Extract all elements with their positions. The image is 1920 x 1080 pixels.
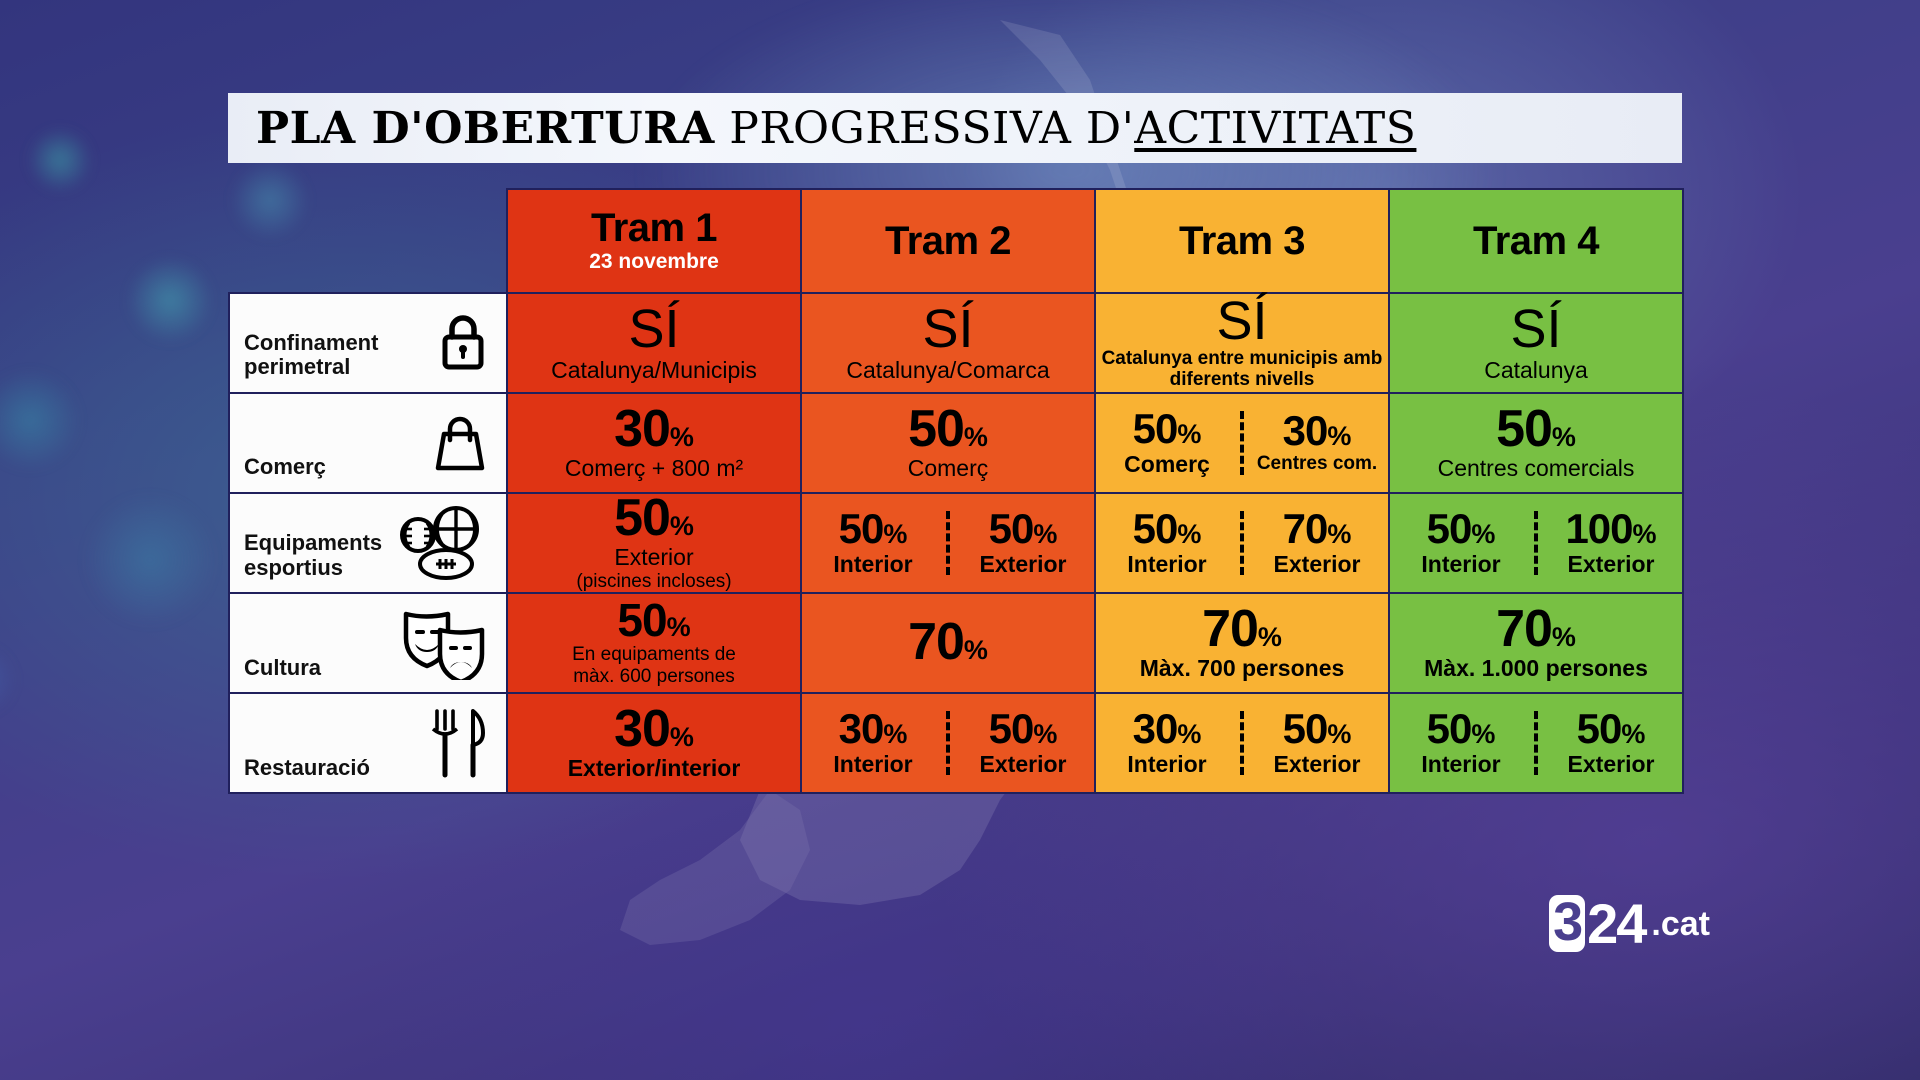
row-label-cultura: Cultura xyxy=(229,593,507,693)
cell-subtext: Catalunya/Municipis xyxy=(508,358,800,383)
column-title: Tram 1 xyxy=(508,208,800,248)
cell-comerc-tram-3: 50% Comerç 30% Centres com. xyxy=(1095,393,1389,493)
cell-unit: % xyxy=(1552,422,1576,452)
cell-cultura-tram-4: 70% Màx. 1.000 persones xyxy=(1389,593,1683,693)
cell-value-wrap: 50% xyxy=(1427,709,1496,750)
column-date-month: novembre xyxy=(613,250,719,273)
cell-subtext-2: (piscines incloses) xyxy=(508,572,800,593)
cell-value: SÍ xyxy=(508,304,800,356)
cell-cultura-tram-3: 70% Màx. 700 persones xyxy=(1095,593,1389,693)
cell-unit: % xyxy=(1258,622,1282,652)
column-date-day: 23 xyxy=(589,250,612,273)
table-row-cultura: Cultura 50% En equip xyxy=(229,593,1683,693)
split-half-right: 50% Exterior xyxy=(952,709,1094,777)
cell-value-wrap: 70% xyxy=(1390,605,1682,654)
cell-value: 30 xyxy=(839,705,884,752)
cell-unit: % xyxy=(1177,519,1201,549)
cell-value: 70 xyxy=(1496,600,1552,658)
column-header-tram-3: Tram 3 xyxy=(1095,189,1389,293)
cell-subtext: Comerç + 800 m² xyxy=(508,456,800,481)
table-header-row: Tram 1 23 novembre Tram 2 Tram 3 Tram 4 xyxy=(229,189,1683,293)
cell-unit: % xyxy=(1552,622,1576,652)
column-header-tram-4: Tram 4 xyxy=(1389,189,1683,293)
cell-unit: % xyxy=(1471,719,1495,749)
sports-icon xyxy=(394,505,490,581)
cell-unit: % xyxy=(667,612,691,642)
split-cell: 50% Interior 70% Exterior xyxy=(1096,509,1388,577)
cell-restauracio-tram-2: 30% Interior 50% Exterior xyxy=(801,693,1095,793)
header-spacer xyxy=(229,189,507,293)
cell-subtext-2: màx. 600 persones xyxy=(508,667,800,688)
cell-value: SÍ xyxy=(802,304,1094,356)
cell-unit: % xyxy=(1177,419,1201,449)
cell-value: 50 xyxy=(1283,705,1328,752)
cell-comerc-tram-2: 50% Comerç xyxy=(801,393,1095,493)
cell-restauracio-tram-4: 50% Interior 50% Exterior xyxy=(1389,693,1683,793)
cell-subtext: Comerç xyxy=(802,456,1094,481)
cell-value: 50 xyxy=(839,505,884,552)
cell-subtext: Interior xyxy=(1421,552,1500,577)
split-half-right: 30% Centres com. xyxy=(1246,409,1388,477)
cell-cultura-tram-2: 70% xyxy=(801,593,1095,693)
cell-value: SÍ xyxy=(1096,296,1388,348)
cell-unit: % xyxy=(1621,719,1645,749)
cell-subtext: Exterior xyxy=(1568,752,1655,777)
cell-value: 50 xyxy=(1427,705,1472,752)
cell-restauracio-tram-1: 30% Exterior/interior xyxy=(507,693,801,793)
cell-value: SÍ xyxy=(1390,304,1682,356)
cell-value: 70 xyxy=(908,613,964,671)
cell-value: 50 xyxy=(1496,400,1552,458)
cell-confinament-tram-4: SÍ Catalunya xyxy=(1389,293,1683,393)
cell-value-wrap: 50% xyxy=(1133,409,1202,450)
cell-value-wrap: 30% xyxy=(839,709,908,750)
cell-value-wrap: 50% xyxy=(1283,709,1352,750)
cell-value: 50 xyxy=(989,505,1034,552)
row-label-esports: Equipaments esportius xyxy=(229,493,507,593)
cell-value-wrap: 50% xyxy=(1390,405,1682,454)
split-cell: 30% Interior 50% Exterior xyxy=(802,709,1094,777)
cell-unit: % xyxy=(1471,519,1495,549)
column-date: 23 novembre xyxy=(508,250,800,273)
cell-value: 30 xyxy=(614,700,670,758)
cell-value: 50 xyxy=(1577,705,1622,752)
cell-unit: % xyxy=(670,511,694,541)
cell-subtext: Catalunya/Comarca xyxy=(802,358,1094,383)
cell-subtext: Exterior xyxy=(980,552,1067,577)
table-row-esports: Equipaments esportius xyxy=(229,493,1683,593)
cell-unit: % xyxy=(1327,421,1351,451)
title-bold: PLA D'OBERTURA xyxy=(256,103,715,154)
cell-value-wrap: 50% xyxy=(508,494,800,543)
cell-subtext: Exterior xyxy=(980,752,1067,777)
cell-divider xyxy=(1240,511,1244,575)
row-label-text: Restauració xyxy=(244,756,370,781)
cell-divider xyxy=(1240,411,1244,475)
cell-subtext: Exterior xyxy=(508,545,800,570)
column-title: Tram 3 xyxy=(1096,221,1388,261)
cell-value-wrap: 50% xyxy=(839,509,908,550)
split-half-left: 50% Interior xyxy=(1390,709,1532,777)
cell-subtext: Centres comercials xyxy=(1390,456,1682,481)
cell-value-wrap: 70% xyxy=(1283,509,1352,550)
cell-unit: % xyxy=(1327,719,1351,749)
cell-value: 50 xyxy=(989,705,1034,752)
cell-esports-tram-3: 50% Interior 70% Exterior xyxy=(1095,493,1389,593)
cell-value: 100 xyxy=(1565,505,1632,552)
cell-subtext: Màx. 1.000 persones xyxy=(1390,656,1682,681)
split-half-left: 50% Interior xyxy=(802,509,944,577)
cell-value-wrap: 30% xyxy=(508,705,800,754)
cell-value-wrap: 50% xyxy=(1427,509,1496,550)
page-title: PLA D'OBERTURA PROGRESSIVA D'ACTIVITATS xyxy=(256,103,1416,154)
title-underlined: ACTIVITATS xyxy=(1134,103,1416,154)
cell-subtext: Exterior xyxy=(1274,552,1361,577)
split-cell: 50% Interior 50% Exterior xyxy=(802,509,1094,577)
cell-value-wrap: 50% xyxy=(989,709,1058,750)
cell-value: 50 xyxy=(614,489,670,547)
cell-subtext: Catalunya xyxy=(1390,358,1682,383)
cell-unit: % xyxy=(883,719,907,749)
logo-mark: 324 xyxy=(1549,895,1645,952)
cell-subtext: Comerç xyxy=(1124,452,1210,477)
cell-value: 30 xyxy=(1283,407,1328,454)
cell-value: 50 xyxy=(1427,505,1472,552)
cell-value-wrap: 50% xyxy=(1577,709,1646,750)
cell-subtext: Interior xyxy=(833,752,912,777)
logo-suffix: .cat xyxy=(1651,907,1710,941)
split-half-left: 50% Interior xyxy=(1390,509,1532,577)
cell-unit: % xyxy=(670,722,694,752)
split-half-right: 50% Exterior xyxy=(1246,709,1388,777)
split-half-right: 100% Exterior xyxy=(1540,509,1682,577)
cell-value-wrap: 30% xyxy=(1283,411,1352,452)
cell-value-wrap: 70% xyxy=(802,618,1094,667)
cell-unit: % xyxy=(670,422,694,452)
cell-value: 30 xyxy=(1133,705,1178,752)
shopping-bag-icon xyxy=(430,410,490,476)
table-row-restauracio: Restauració 30% Exterior/interi xyxy=(229,693,1683,793)
cell-value-wrap: 50% xyxy=(989,509,1058,550)
row-label-confinament: Confinament perimetral xyxy=(229,293,507,393)
split-cell: 50% Interior 100% Exterior xyxy=(1390,509,1682,577)
title-bar: PLA D'OBERTURA PROGRESSIVA D'ACTIVITATS xyxy=(228,93,1682,163)
row-label-text: Confinament perimetral xyxy=(244,331,414,380)
cell-cultura-tram-1: 50% En equipaments de màx. 600 persones xyxy=(507,593,801,693)
cell-esports-tram-1: 50% Exterior (piscines incloses) xyxy=(507,493,801,593)
table-row-confinament: Confinament perimetral SÍ Catalunya/Muni… xyxy=(229,293,1683,393)
cell-subtext: Màx. 700 persones xyxy=(1096,656,1388,681)
split-cell: 50% Interior 50% Exterior xyxy=(1390,709,1682,777)
logo-digits: 24 xyxy=(1587,896,1645,952)
plan-table: Tram 1 23 novembre Tram 2 Tram 3 Tram 4 … xyxy=(228,188,1684,794)
cell-confinament-tram-3: SÍ Catalunya entre municipis amb diferen… xyxy=(1095,293,1389,393)
channel-logo: 324 .cat xyxy=(1549,895,1710,952)
row-label-text: Cultura xyxy=(244,656,321,681)
row-label-comerc: Comerç xyxy=(229,393,507,493)
cutlery-icon xyxy=(428,707,490,779)
cell-divider xyxy=(946,711,950,775)
split-half-left: 30% Interior xyxy=(802,709,944,777)
cell-value-wrap: 50% xyxy=(802,405,1094,454)
cell-unit: % xyxy=(883,519,907,549)
split-cell: 50% Comerç 30% Centres com. xyxy=(1096,409,1388,477)
split-half-left: 50% Interior xyxy=(1096,509,1238,577)
cell-value: 70 xyxy=(1283,505,1328,552)
cell-divider xyxy=(1534,511,1538,575)
cell-unit: % xyxy=(1327,519,1351,549)
cell-value-wrap: 50% xyxy=(1133,509,1202,550)
row-label-text: Comerç xyxy=(244,455,326,480)
cell-value: 50 xyxy=(908,400,964,458)
cell-value: 50 xyxy=(1133,505,1178,552)
cell-unit: % xyxy=(964,422,988,452)
cell-unit: % xyxy=(1033,719,1057,749)
cell-divider xyxy=(1240,711,1244,775)
split-half-right: 50% Exterior xyxy=(952,509,1094,577)
split-half-right: 50% Exterior xyxy=(1540,709,1682,777)
theatre-masks-icon xyxy=(398,606,490,680)
cell-subtext: En equipaments de xyxy=(508,645,800,666)
logo-three: 3 xyxy=(1549,895,1585,952)
column-header-tram-1: Tram 1 23 novembre xyxy=(507,189,801,293)
cell-divider xyxy=(1534,711,1538,775)
cell-unit: % xyxy=(1177,719,1201,749)
cell-value-wrap: 70% xyxy=(1096,605,1388,654)
cell-value-wrap: 30% xyxy=(1133,709,1202,750)
cell-restauracio-tram-3: 30% Interior 50% Exterior xyxy=(1095,693,1389,793)
cell-unit: % xyxy=(964,635,988,665)
column-header-tram-2: Tram 2 xyxy=(801,189,1095,293)
cell-esports-tram-2: 50% Interior 50% Exterior xyxy=(801,493,1095,593)
split-half-left: 50% Comerç xyxy=(1096,409,1238,477)
cell-value: 70 xyxy=(1202,600,1258,658)
split-half-right: 70% Exterior xyxy=(1246,509,1388,577)
column-title: Tram 2 xyxy=(802,221,1094,261)
cell-value-wrap: 100% xyxy=(1565,509,1656,550)
cell-subtext: Exterior xyxy=(1568,552,1655,577)
cell-subtext: Interior xyxy=(1127,752,1206,777)
cell-value: 50 xyxy=(617,594,666,646)
row-label-text: Equipaments esportius xyxy=(244,531,414,580)
cell-subtext: Exterior/interior xyxy=(508,756,800,781)
cell-confinament-tram-2: SÍ Catalunya/Comarca xyxy=(801,293,1095,393)
cell-subtext: Exterior xyxy=(1274,752,1361,777)
cell-value-wrap: 30% xyxy=(508,405,800,454)
cell-subtext: Interior xyxy=(1421,752,1500,777)
row-label-restauracio: Restauració xyxy=(229,693,507,793)
title-light: PROGRESSIVA D' xyxy=(715,103,1135,154)
cell-comerc-tram-1: 30% Comerç + 800 m² xyxy=(507,393,801,493)
split-half-left: 30% Interior xyxy=(1096,709,1238,777)
cell-value: 50 xyxy=(1133,405,1178,452)
cell-esports-tram-4: 50% Interior 100% Exterior xyxy=(1389,493,1683,593)
lock-icon xyxy=(436,312,490,374)
cell-unit: % xyxy=(1633,519,1657,549)
cell-subtext: Interior xyxy=(833,552,912,577)
column-title: Tram 4 xyxy=(1390,221,1682,261)
cell-divider xyxy=(946,511,950,575)
cell-subtext: Centres com. xyxy=(1257,454,1377,475)
cell-subtext: Interior xyxy=(1127,552,1206,577)
table-row-comerc: Comerç 30% Comerç + 800 m² 50% Comerç xyxy=(229,393,1683,493)
cell-unit: % xyxy=(1033,519,1057,549)
cell-value-wrap: 50% xyxy=(508,599,800,643)
cell-confinament-tram-1: SÍ Catalunya/Municipis xyxy=(507,293,801,393)
cell-value: 30 xyxy=(614,400,670,458)
split-cell: 30% Interior 50% Exterior xyxy=(1096,709,1388,777)
cell-comerc-tram-4: 50% Centres comercials xyxy=(1389,393,1683,493)
cell-subtext: Catalunya entre municipis amb diferents … xyxy=(1096,349,1388,390)
